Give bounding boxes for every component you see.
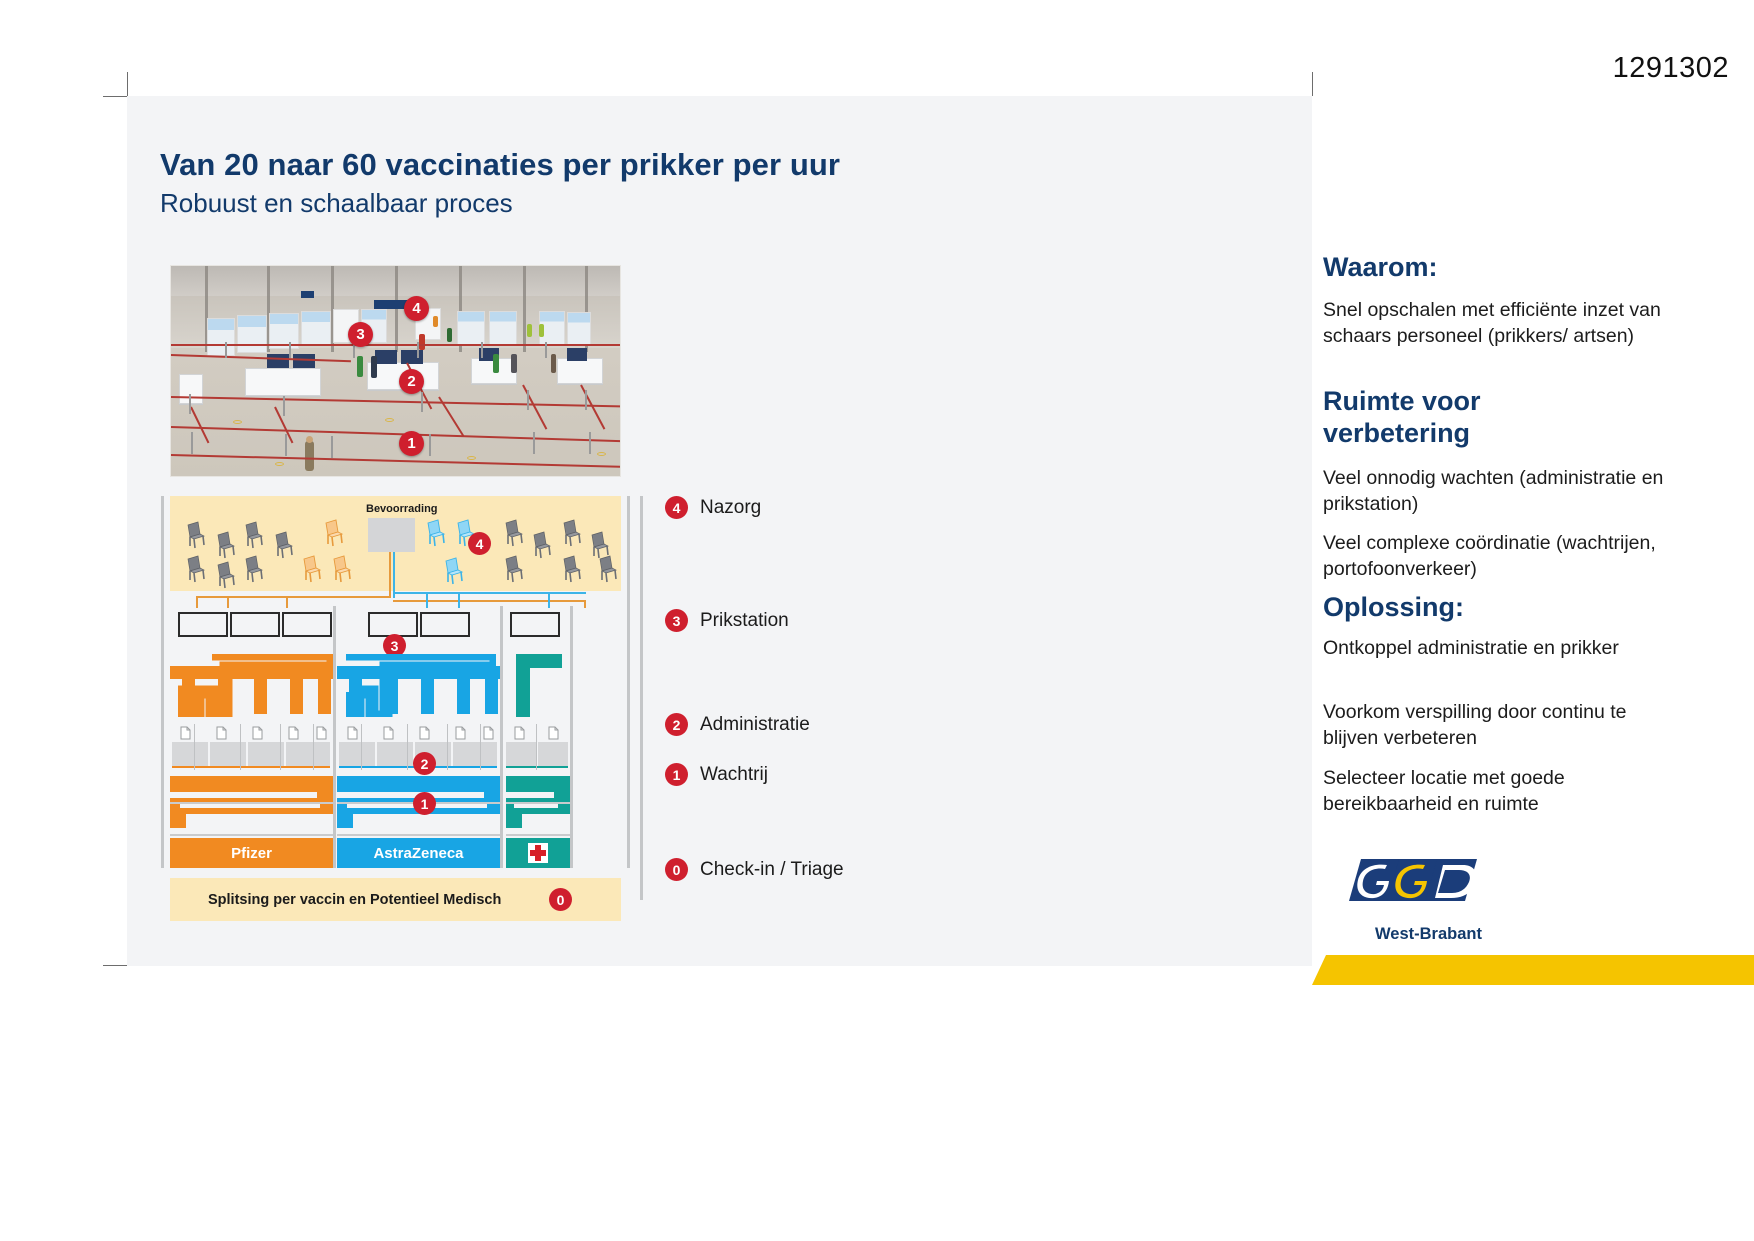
admin-desk: [248, 742, 284, 766]
floorplan-left-rule: [161, 496, 164, 868]
legend-label-wachtrij: Wachtrij: [700, 764, 768, 786]
queue-guide: [506, 834, 570, 836]
photo-person: [419, 334, 425, 350]
lane-tick: [313, 724, 314, 770]
split-label: Splitsing per vaccin en Potentieel Medis…: [208, 892, 501, 908]
queue-guide: [170, 802, 333, 804]
photo-person: [447, 328, 452, 342]
floorplan-marker-1: 1: [413, 792, 436, 815]
lane-divider: [333, 606, 336, 868]
section-paragraph-oplossing-2: Voorkom verspilling door continu te blij…: [1323, 700, 1683, 752]
photo-queue-post: [533, 432, 535, 454]
chair-blue: [440, 556, 466, 586]
photo-queue-post: [481, 342, 483, 358]
section-oplossing-body-2: Voorkom verspilling door continu te blij…: [1323, 700, 1683, 752]
admin-desk: [286, 742, 330, 766]
document-icon: [455, 726, 466, 740]
legend-badge-2: 2: [665, 713, 688, 736]
admin-underline-teal: [506, 766, 568, 768]
lane-tick: [536, 724, 537, 770]
photo-person: [551, 354, 556, 373]
photo-desk: [557, 358, 603, 384]
legend-label-administratie: Administratie: [700, 714, 810, 736]
crop-mark-tl-v: [127, 72, 128, 98]
ggd-logo-region: West-Brabant: [1375, 925, 1482, 944]
floorplan-right-rule: [627, 496, 630, 868]
document-icon: [216, 726, 227, 740]
photo-column: [523, 266, 526, 352]
section-paragraph-ruimte-2: Veel complexe coördinatie (wachtrijen, p…: [1323, 531, 1683, 583]
document-icon: [252, 726, 263, 740]
photo-floor-marker: [275, 462, 284, 466]
photo-marker-2: 2: [399, 369, 424, 394]
chair-grey: [182, 520, 208, 550]
photo-queue-post: [527, 390, 529, 410]
chair-grey: [528, 530, 554, 560]
photo-queue-post: [283, 396, 285, 416]
chair-grey: [558, 518, 584, 548]
lane-tick: [407, 724, 408, 770]
page-number: 1291302: [1613, 52, 1729, 85]
photo-queue-post: [429, 434, 431, 456]
photo-person: [539, 324, 544, 337]
photo-booth: [207, 318, 235, 356]
lane-label-astrazeneca: AstraZeneca: [337, 838, 500, 868]
photo-queue-post: [225, 342, 227, 358]
admin-desk: [339, 742, 375, 766]
chair-grey: [240, 520, 266, 550]
prikstation-box: [510, 612, 560, 637]
crop-mark-tl-h: [103, 96, 129, 97]
photo-person: [305, 441, 314, 471]
crop-mark-tr-v: [1312, 72, 1313, 98]
supply-pipe-orange: [196, 596, 391, 598]
legend-label-prikstation: Prikstation: [700, 610, 789, 632]
lane-tick: [361, 724, 362, 770]
footer-yellow-bar: [1312, 955, 1754, 985]
chair-grey: [270, 530, 296, 560]
queue-guide: [506, 802, 570, 804]
photo-floor-marker: [233, 420, 242, 424]
photo-person: [493, 354, 499, 373]
section-paragraph-oplossing-1: Ontkoppel administratie en prikker: [1323, 636, 1683, 662]
photo-monitor: [375, 350, 397, 364]
floorplan-marker-4: 4: [468, 532, 491, 555]
admin-desk: [172, 742, 208, 766]
aftercare-zone: Bevoorrading: [170, 496, 621, 591]
photo-floor-marker: [385, 418, 394, 422]
photo-desk: [245, 368, 321, 396]
chair-grey: [240, 554, 266, 584]
lane-tick: [480, 724, 481, 770]
chair-grey: [500, 554, 526, 584]
chair-grey: [212, 530, 238, 560]
section-paragraph-waarom-1: Snel opschalen met efficiënte inzet van …: [1323, 298, 1683, 350]
legend-label-nazorg: Nazorg: [700, 497, 761, 519]
floorplan-diagram: Bevoorrading: [170, 496, 621, 922]
floorplan-marker-0: 0: [549, 888, 572, 911]
astrazeneca-comb-teeth: [337, 666, 500, 723]
document-icon: [288, 726, 299, 740]
document-icon: [316, 726, 327, 740]
photo-floor-marker: [467, 456, 476, 460]
photo-marker-3: 3: [348, 322, 373, 347]
vaccination-hall-photo: 4 3 2 1: [170, 265, 621, 477]
legend-badge-3: 3: [665, 609, 688, 632]
poster-page: 1291302 Van 20 naar 60 vaccinaties per p…: [0, 0, 1754, 1241]
medical-queue: [506, 776, 570, 833]
prikstation-box: [420, 612, 470, 637]
photo-person: [527, 324, 532, 337]
photo-monitor: [267, 354, 289, 368]
chair-orange: [298, 554, 324, 584]
section-ruimte-body-1: Veel onnodig wachten (administratie en p…: [1323, 466, 1683, 518]
photo-person: [511, 354, 517, 373]
photo-queue-post: [331, 436, 333, 458]
legend-badge-0: 0: [665, 858, 688, 881]
section-oplossing-body-1: Ontkoppel administratie en prikker: [1323, 636, 1683, 662]
pfizer-comb-teeth: [170, 666, 333, 723]
lane-divider: [570, 606, 573, 868]
medical-upper-comb: [510, 654, 570, 722]
photo-queue-post: [589, 432, 591, 454]
admin-desk: [506, 742, 536, 766]
photo-column: [395, 266, 398, 352]
photo-booth: [457, 311, 485, 345]
admin-desk: [538, 742, 568, 766]
document-icon: [347, 726, 358, 740]
section-heading-waarom: Waarom:: [1323, 252, 1683, 284]
medical-cross-icon: [528, 843, 548, 863]
photo-booth: [489, 311, 517, 345]
document-icon: [419, 726, 430, 740]
photo-person: [433, 316, 438, 327]
chair-grey: [182, 554, 208, 584]
legend-badge-1: 1: [665, 763, 688, 786]
lanes-region: 3: [170, 606, 621, 868]
lane-tick: [194, 724, 195, 770]
page-subtitle: Robuust en schaalbaar proces: [160, 188, 513, 219]
section-ruimte: Ruimte voor verbetering: [1323, 386, 1683, 450]
admin-underline-orange: [172, 766, 330, 768]
chair-grey: [212, 560, 238, 590]
prikstation-box: [282, 612, 332, 637]
chair-grey: [500, 518, 526, 548]
admin-desk: [453, 742, 497, 766]
prikstation-box: [178, 612, 228, 637]
supply-pipe-orange: [393, 600, 586, 602]
legend-badge-4: 4: [665, 496, 688, 519]
legend-item-prikstation[interactable]: 3 Prikstation: [665, 609, 789, 632]
photo-queue-post: [545, 342, 547, 358]
photo-booth: [567, 312, 591, 345]
photo-desk: [179, 374, 203, 404]
photo-booth: [301, 311, 331, 346]
document-icon: [483, 726, 494, 740]
queue-guide: [170, 834, 333, 836]
floorplan-marker-2: 2: [413, 752, 436, 775]
section-paragraph-ruimte-1: Veel onnodig wachten (administratie en p…: [1323, 466, 1683, 518]
section-waarom-body: Snel opschalen met efficiënte inzet van …: [1323, 298, 1683, 350]
legend: 4 Nazorg 3 Prikstation 2 Administratie 1…: [640, 496, 890, 922]
photo-monitor: [567, 348, 587, 361]
chair-grey: [558, 554, 584, 584]
lane-label-medical: [506, 838, 570, 868]
lane-label-pfizer: Pfizer: [170, 838, 333, 868]
photo-queue-post: [421, 392, 423, 412]
supply-label: Bevoorrading: [366, 503, 438, 515]
section-oplossing: Oplossing:: [1323, 592, 1683, 624]
chair-blue: [422, 518, 448, 548]
lane-tick: [280, 724, 281, 770]
photo-booth: [237, 315, 267, 353]
photo-queue-post: [189, 394, 191, 414]
split-zone: Splitsing per vaccin en Potentieel Medis…: [170, 878, 621, 921]
section-heading-ruimte: Ruimte voor verbetering: [1323, 386, 1523, 450]
photo-person-head: [306, 436, 313, 443]
photo-queue-rope: [171, 344, 621, 346]
document-icon: [180, 726, 191, 740]
section-paragraph-oplossing-3: Selecteer locatie met goede bereikbaarhe…: [1323, 766, 1683, 818]
supply-box: [368, 518, 415, 552]
photo-queue-post: [289, 342, 291, 358]
photo-monitor: [293, 354, 315, 368]
photo-monitor: [401, 350, 423, 364]
section-ruimte-body-2: Veel complexe coördinatie (wachtrijen, p…: [1323, 531, 1683, 583]
supply-pipe-orange: [389, 552, 391, 598]
chair-orange: [328, 554, 354, 584]
page-title: Van 20 naar 60 vaccinaties per prikker p…: [160, 147, 840, 183]
legend-item-checkin-triage[interactable]: 0 Check-in / Triage: [665, 858, 844, 881]
legend-item-administratie[interactable]: 2 Administratie: [665, 713, 810, 736]
photo-queue-post: [417, 342, 419, 358]
lane-tick: [447, 724, 448, 770]
lane-divider: [500, 606, 503, 868]
document-icon: [548, 726, 559, 740]
legend-item-nazorg[interactable]: 4 Nazorg: [665, 496, 761, 519]
photo-person: [357, 356, 363, 377]
prikstation-box: [230, 612, 280, 637]
photo-marker-4: 4: [404, 296, 429, 321]
legend-label-checkin-triage: Check-in / Triage: [700, 859, 844, 881]
photo-queue-post: [285, 434, 287, 456]
supply-pipe-blue: [393, 592, 586, 594]
section-heading-oplossing: Oplossing:: [1323, 592, 1683, 624]
section-waarom: Waarom:: [1323, 252, 1683, 284]
chair-orange: [320, 518, 346, 548]
chair-grey: [594, 554, 620, 584]
pfizer-queue: [170, 776, 333, 833]
legend-item-wachtrij[interactable]: 1 Wachtrij: [665, 763, 768, 786]
queue-guide: [337, 834, 500, 836]
photo-queue-post: [585, 390, 587, 410]
photo-person: [371, 356, 377, 378]
crop-mark-bl-h: [103, 965, 129, 966]
legend-rule: [640, 496, 643, 900]
photo-floor-marker: [597, 452, 606, 456]
lane-tick: [240, 724, 241, 770]
photo-marker-1: 1: [399, 431, 424, 456]
photo-queue-post: [191, 432, 193, 454]
photo-banner: [301, 291, 314, 298]
document-icon: [514, 726, 525, 740]
section-oplossing-body-3: Selecteer locatie met goede bereikbaarhe…: [1323, 766, 1683, 818]
document-icon: [383, 726, 394, 740]
